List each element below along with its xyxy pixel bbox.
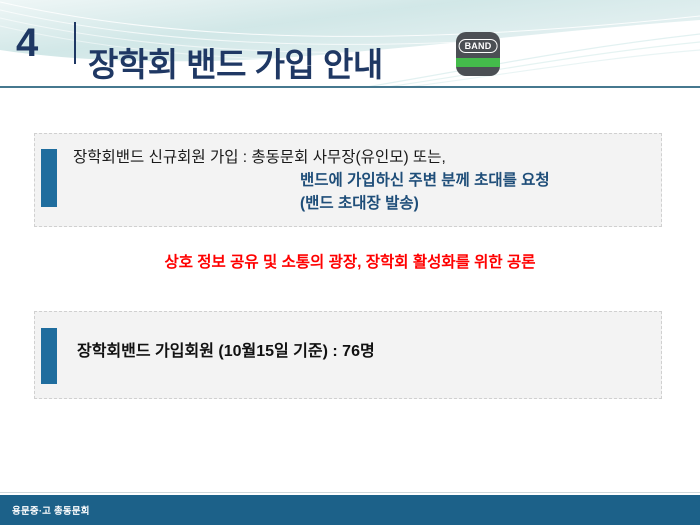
- band-app-icon[interactable]: BAND: [456, 32, 500, 76]
- membership-info-line-2: 밴드에 가입하신 주변 분께 초대를 요청: [300, 169, 651, 192]
- box-marker-bar: [41, 328, 57, 384]
- presentation-slide: 4 장학회 밴드 가입 안내 BAND 장학회밴드 신규회원 가입 : 총동문회…: [0, 0, 700, 525]
- box-text-group: 장학회밴드 가입회원 (10월15일 기준) : 76명: [77, 340, 651, 363]
- content-box-member-count: 장학회밴드 가입회원 (10월15일 기준) : 76명: [34, 311, 662, 399]
- slide-header: 4 장학회 밴드 가입 안내 BAND: [0, 0, 700, 88]
- footer-organization-label: 용문중·고 총동문회: [12, 503, 90, 517]
- membership-info-line-3: (밴드 초대장 발송): [300, 192, 651, 215]
- title-divider: [74, 22, 76, 64]
- slide-number: 4: [16, 20, 37, 66]
- member-count-line-1: 장학회밴드 가입회원 (10월15일 기준) : 76명: [77, 340, 651, 363]
- band-icon-label: BAND: [459, 39, 498, 53]
- emphasis-statement: 상호 정보 공유 및 소통의 광장, 장학회 활성화를 위한 공론: [0, 252, 700, 274]
- box-text-group: 장학회밴드 신규회원 가입 : 총동문회 사무장(유인모) 또는, 밴드에 가입…: [73, 146, 651, 215]
- content-box-membership-info: 장학회밴드 신규회원 가입 : 총동문회 사무장(유인모) 또는, 밴드에 가입…: [34, 133, 662, 227]
- slide-footer: 용문중·고 총동문회: [0, 495, 700, 525]
- header-divider-rule: [0, 86, 700, 88]
- page-title: 장학회 밴드 가입 안내: [88, 42, 383, 88]
- membership-info-line-1: 장학회밴드 신규회원 가입 : 총동문회 사무장(유인모) 또는,: [73, 146, 651, 169]
- box-marker-bar: [41, 149, 57, 207]
- band-icon-green-stripe: [456, 58, 500, 67]
- footer-hairline: [0, 492, 700, 493]
